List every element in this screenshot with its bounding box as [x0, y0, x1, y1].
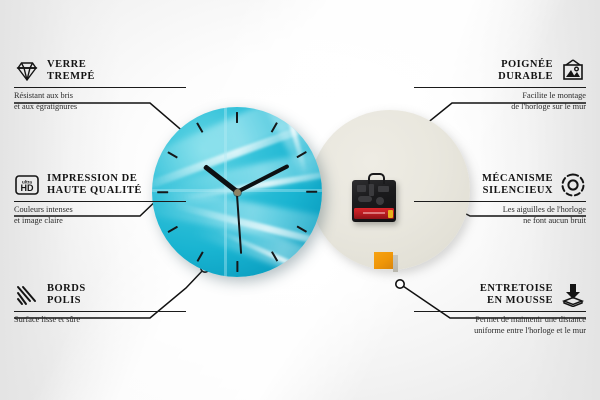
feature-description: Résistant aux bris et aux égratignures — [14, 91, 186, 112]
feature-impression-haute-qualite: ultra HD IMPRESSION DE HAUTE QUALITÉ Cou… — [14, 172, 186, 226]
connector-dot-entretoise — [396, 280, 404, 288]
feature-description: Facilite le montage de l'horloge sur le … — [414, 91, 586, 112]
feature-header: ENTRETOISE EN MOUSSE — [414, 282, 586, 308]
movement-detail — [357, 185, 366, 192]
feature-divider — [14, 311, 186, 312]
clock-tick — [306, 191, 317, 193]
clock-tick — [296, 225, 307, 233]
feature-title: BORDS POLIS — [47, 283, 86, 308]
clock-tick — [270, 122, 278, 133]
ultra-hd-icon: ultra HD — [14, 172, 40, 198]
hanging-frame-icon — [560, 58, 586, 84]
gear-icon — [560, 172, 586, 198]
feature-description: Les aiguilles de l'horloge ne font aucun… — [414, 205, 586, 226]
foam-spacer-icon — [560, 282, 586, 308]
diamond-icon — [14, 58, 40, 84]
clock-minute-hand — [236, 164, 289, 194]
ultra-hd-icon-main-text: HD — [21, 183, 34, 193]
feature-header: VERRE TREMPÉ — [14, 58, 186, 84]
clock-tick — [196, 122, 204, 133]
feature-title: MÉCANISME SILENCIEUX — [482, 173, 553, 198]
clock-center-cap — [234, 189, 241, 196]
battery — [354, 208, 394, 219]
feature-divider — [14, 87, 186, 88]
polished-edges-icon — [14, 282, 40, 308]
feature-divider — [414, 311, 586, 312]
clock-second-hand — [236, 192, 242, 254]
feature-bords-polis: BORDS POLIS Surface lisse et sûre — [14, 282, 186, 326]
feature-header: POIGNÉE DURABLE — [414, 58, 586, 84]
feature-verre-trempe: VERRE TREMPÉ Résistant aux bris et aux é… — [14, 58, 186, 112]
feature-description: Couleurs intenses et image claire — [14, 205, 186, 226]
clock-tick — [167, 151, 178, 159]
infographic-canvas: VERRE TREMPÉ Résistant aux bris et aux é… — [0, 0, 600, 400]
battery-label-band — [363, 212, 385, 214]
clock-tick — [296, 151, 307, 159]
foam-spacer — [374, 252, 393, 269]
clock-tick — [167, 225, 178, 233]
feature-mecanisme-silencieux: MÉCANISME SILENCIEUX Les aiguilles de l'… — [414, 172, 586, 226]
feature-header: BORDS POLIS — [14, 282, 186, 308]
battery-positive-terminal — [388, 210, 393, 218]
feature-header: ultra HD IMPRESSION DE HAUTE QUALITÉ — [14, 172, 186, 198]
feature-description: Surface lisse et sûre — [14, 315, 186, 326]
feature-poignee-durable: POIGNÉE DURABLE Facilite le montage de l… — [414, 58, 586, 112]
feature-title: ENTRETOISE EN MOUSSE — [480, 283, 553, 308]
movement-detail — [376, 197, 384, 205]
feature-description: Permet de maintenir une distance uniform… — [414, 315, 586, 336]
feature-header: MÉCANISME SILENCIEUX — [414, 172, 586, 198]
feature-title: POIGNÉE DURABLE — [498, 59, 553, 84]
clock-movement — [352, 180, 396, 222]
movement-detail — [358, 196, 372, 202]
clock-tick — [196, 251, 204, 262]
movement-hanger — [368, 173, 385, 184]
feature-divider — [414, 201, 586, 202]
feature-divider — [414, 87, 586, 88]
movement-detail — [378, 186, 389, 192]
clock-tick — [236, 261, 238, 272]
feature-entretoise-en-mousse: ENTRETOISE EN MOUSSE Permet de maintenir… — [414, 282, 586, 336]
movement-detail — [369, 184, 374, 196]
clock-tick — [270, 251, 278, 262]
feature-divider — [14, 201, 186, 202]
clock-hour-hand — [202, 164, 238, 194]
feature-title: VERRE TREMPÉ — [47, 59, 95, 84]
clock-tick — [236, 112, 238, 123]
foam-spacer-side — [393, 255, 398, 272]
feature-title: IMPRESSION DE HAUTE QUALITÉ — [47, 173, 142, 198]
